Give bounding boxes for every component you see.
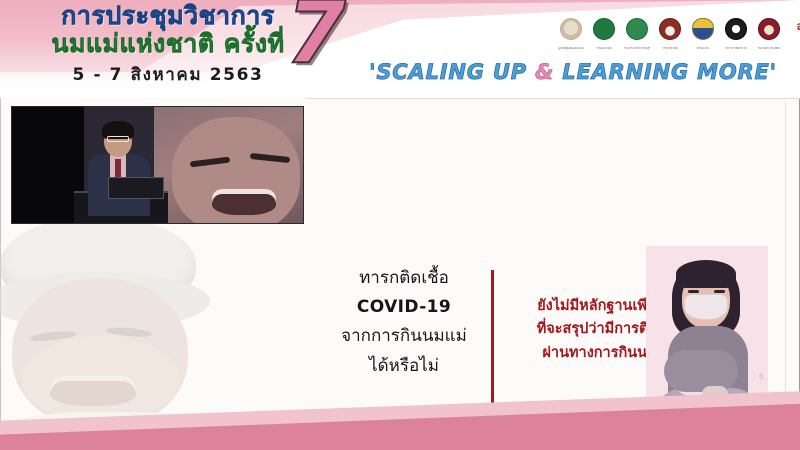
sponsor-logo-strip: มูลนิธิศูนย์นมแม่แห่งประเทศไทย กรมอนามัย…: [558, 18, 800, 50]
thai-emblem-icon: [692, 18, 714, 40]
content-right-hairline: [785, 102, 786, 424]
nursing-council-icon: [725, 18, 747, 40]
nursing-council-logo: สภาการพยาบาล: [723, 18, 749, 50]
conference-title-line2: นมแม่แห่งชาติ ครั้งที่: [18, 30, 318, 58]
department-health-logo: กระทรวงสาธารณสุข: [624, 18, 650, 50]
royal-seal-logo: มูลนิธิศูนย์นมแม่แห่งประเทศไทย: [558, 18, 584, 50]
thai-emblem-logo: สำนักงาน: [690, 18, 716, 50]
logo-caption: กรมอนามัย: [591, 47, 617, 50]
logo-caption: ชมรมกุมารแพทย์: [756, 47, 782, 50]
conference-title-block: การประชุมวิชาการ นมแม่แห่งชาติ ครั้งที่ …: [18, 2, 318, 88]
tagline-ampersand: &: [535, 60, 554, 84]
tagline-suffix: LEARNING MORE': [554, 60, 777, 84]
speaker-glasses-icon: [107, 136, 129, 142]
thaihealth-wordmark: สสส: [790, 18, 800, 36]
question-line-1: ทารกติดเชื้อ: [320, 264, 488, 293]
podium-laptop: [108, 177, 164, 199]
logo-caption: สสส: [789, 47, 800, 50]
mother-eye-right: [714, 290, 725, 293]
infant-smile: [212, 189, 276, 215]
ministry-public-health-logo: กรมอนามัย: [591, 18, 617, 50]
conference-tagline: 'SCALING UP & LEARNING MORE': [356, 60, 790, 84]
mother-eye-left: [688, 290, 699, 293]
ministry-health-icon: [593, 18, 615, 40]
pediatric-society-icon: [758, 18, 780, 40]
mother-hair-fringe: [676, 260, 736, 288]
conference-header-banner: การประชุมวิชาการ นมแม่แห่งชาติ ครั้งที่ …: [0, 0, 800, 98]
logo-caption: ราชวิทยาลัย: [657, 47, 683, 50]
question-line-4: ได้หรือไม่: [320, 352, 488, 381]
logo-caption: สำนักงาน: [690, 47, 716, 50]
logo-caption: กระทรวงสาธารณสุข: [624, 47, 650, 50]
bottom-wave-decoration: [0, 380, 800, 450]
question-line-3: จากการกินนมแม่: [320, 322, 488, 351]
speaker-video-inset[interactable]: [11, 106, 304, 224]
pediatric-society-logo: ชมรมกุมารแพทย์: [756, 18, 782, 50]
presentation-slide: การประชุมวิชาการ นมแม่แห่งชาติ ครั้งที่ …: [0, 0, 800, 450]
question-line-2: COVID-19: [320, 293, 488, 322]
tagline-prefix: 'SCALING UP: [369, 60, 535, 84]
content-top-hairline: [306, 98, 800, 99]
thaihealth-sss-logo: สสสสสส: [789, 18, 800, 50]
conference-title-line1: การประชุมวิชาการ: [18, 2, 318, 30]
royal-seal-icon: [560, 18, 582, 40]
question-text-block: ทารกติดเชื้อ COVID-19 จากการกินนมแม่ ได้…: [320, 264, 488, 381]
projected-infant-image: [154, 106, 304, 224]
royal-college-logo: ราชวิทยาลัย: [657, 18, 683, 50]
royal-college-icon: [659, 18, 681, 40]
logo-caption: สภาการพยาบาล: [723, 47, 749, 50]
logo-caption: มูลนิธิศูนย์นมแม่แห่งประเทศไทย: [558, 47, 584, 50]
edition-number: 7: [286, 0, 346, 76]
conference-date: 5 - 7 สิงหาคม 2563: [18, 61, 318, 88]
face-mask-icon: [684, 294, 728, 320]
department-health-icon: [626, 18, 648, 40]
